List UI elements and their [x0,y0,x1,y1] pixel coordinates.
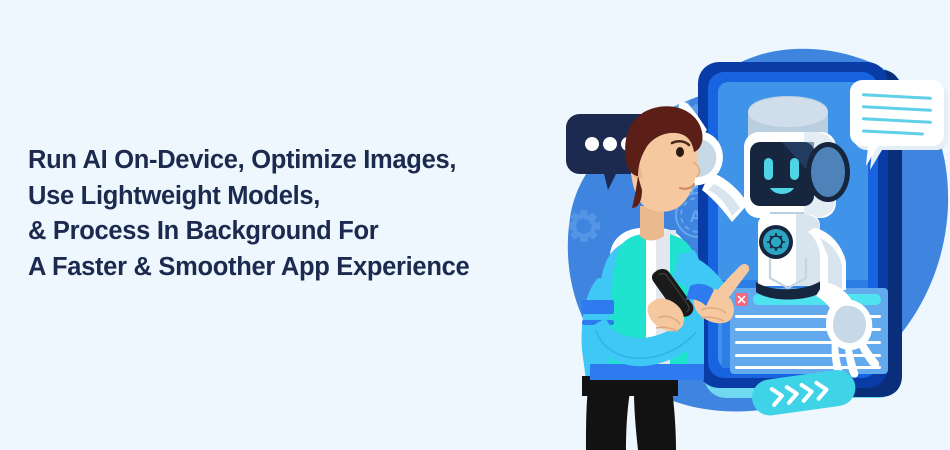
headline-line-1: Run AI On-Device, Optimize Images, [28,143,548,179]
headline-line-2: Use Lightweight Models, [28,179,548,215]
headline-line-3: & Process In Background For [28,214,548,250]
page-title: Run AI On-Device, Optimize Images, Use L… [28,143,548,285]
sleeve-badge [582,300,614,325]
robot-eye-right [790,158,799,180]
headline-line-4: A Faster & Smoother App Experience [28,250,548,286]
promo-banner: Run AI On-Device, Optimize Images, Use L… [0,0,950,450]
ai-assistant-illustration: AI [552,0,950,450]
robot-eye-left [764,158,773,180]
